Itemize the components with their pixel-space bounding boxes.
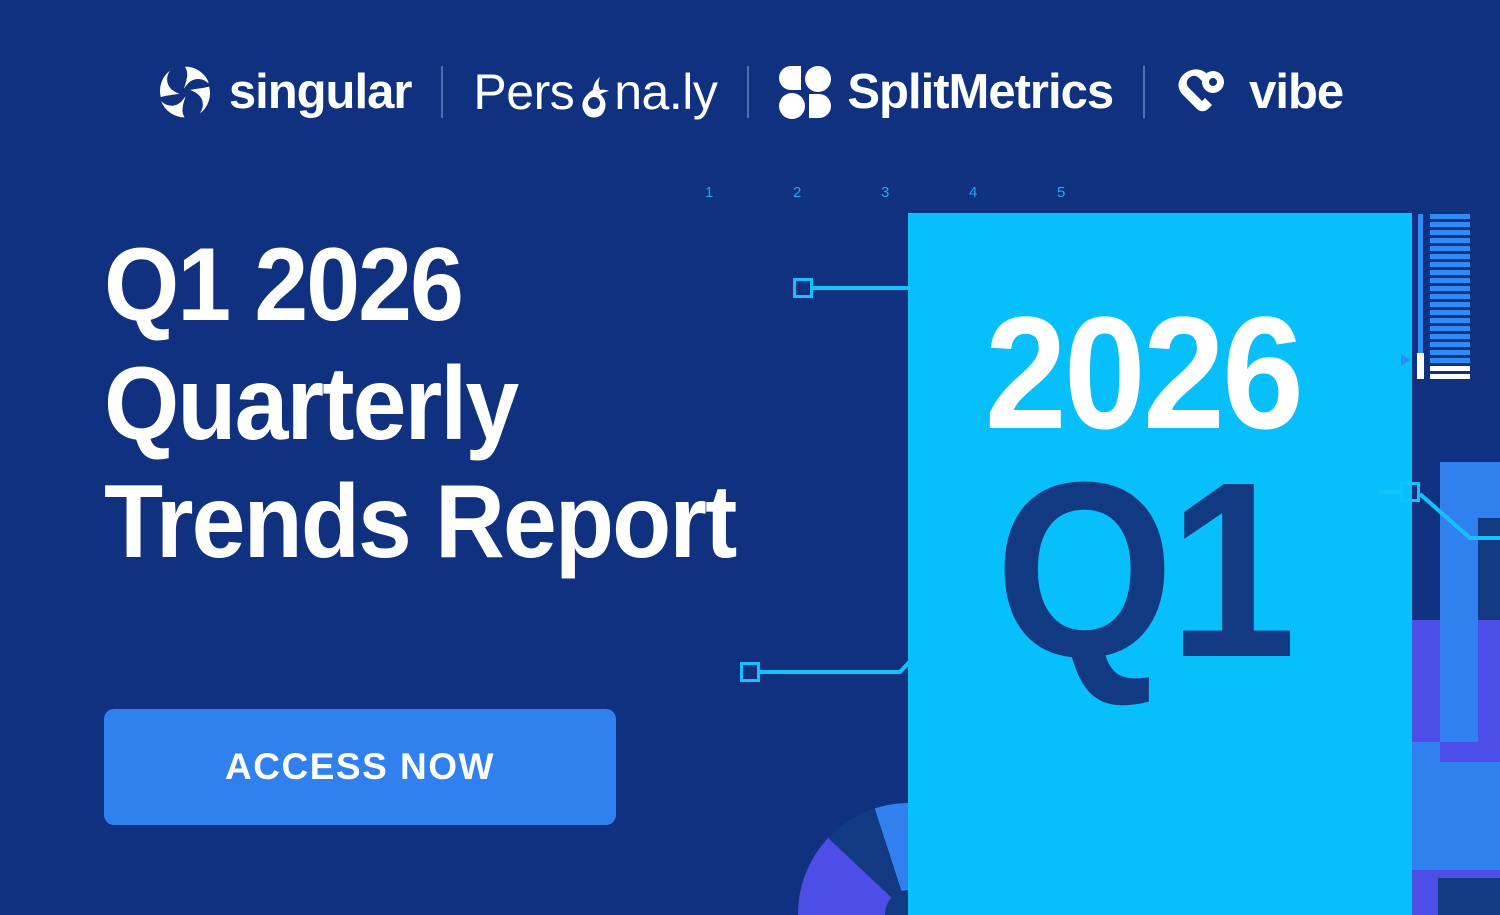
- tick-label-2: 2: [793, 184, 801, 201]
- slider-tick: [1430, 254, 1470, 259]
- slider-tick: [1430, 326, 1470, 331]
- connector-polyline-mid: [735, 600, 925, 690]
- decor-navy-corner: [1438, 878, 1500, 915]
- quarter-panel: 2026 Q1: [908, 213, 1378, 915]
- tick-label-4: 4: [969, 184, 977, 201]
- partner-logo-bar: singular Pers na.ly: [0, 44, 1500, 140]
- slider-tick: [1430, 366, 1470, 371]
- slider-tick: [1430, 318, 1470, 323]
- slider-tick: [1430, 302, 1470, 307]
- access-now-button[interactable]: ACCESS NOW: [104, 709, 616, 825]
- page-title: Q1 2026 Quarterly Trends Report: [104, 226, 829, 582]
- connector-polyline-right: [1370, 470, 1500, 560]
- tick-row: 1 2 3 4 5: [660, 184, 1120, 210]
- decor-cyan-strip: [1378, 213, 1412, 915]
- decor-purple-block-b: [1440, 742, 1500, 762]
- slider-tick: [1430, 270, 1470, 275]
- logo-personaly-text-after: na.ly: [614, 64, 717, 120]
- logo-divider-2: [747, 66, 749, 118]
- logo-divider-1: [441, 66, 443, 118]
- headline-line-2: Quarterly: [104, 345, 829, 464]
- slider-tick: [1430, 286, 1470, 291]
- slider-tick: [1430, 214, 1470, 219]
- logo-splitmetrics-text: SplitMetrics: [847, 68, 1113, 117]
- slider-tick: [1430, 374, 1470, 379]
- logo-singular-text: singular: [229, 68, 412, 117]
- connector-node-right: [1400, 482, 1420, 502]
- logo-vibe[interactable]: vibe: [1145, 68, 1373, 117]
- logo-personaly[interactable]: Pers na.ly: [443, 63, 747, 121]
- slider-tick: [1430, 294, 1470, 299]
- slider-tick: [1430, 262, 1470, 267]
- heart-v-icon: [1175, 69, 1233, 115]
- logo-personaly-text: Pers na.ly: [473, 63, 717, 121]
- vertical-slider[interactable]: [1418, 214, 1478, 374]
- play-triangle-icon: [1401, 354, 1410, 366]
- slider-tick: [1430, 334, 1470, 339]
- tick-label-5: 5: [1057, 184, 1065, 201]
- banner-root: 2026 Q1 1 2 3 4 5: [0, 0, 1500, 915]
- slider-tick: [1430, 350, 1470, 355]
- slider-tick: [1430, 246, 1470, 251]
- slider-tick: [1430, 222, 1470, 227]
- panel-year-label: 2026: [927, 297, 1359, 449]
- logo-singular[interactable]: singular: [127, 64, 442, 120]
- headline-line-3: Trends Report: [104, 463, 829, 582]
- logo-personaly-text-before: Pers: [473, 64, 574, 120]
- slider-tick: [1430, 230, 1470, 235]
- tick-label-3: 3: [881, 184, 889, 201]
- logo-splitmetrics[interactable]: SplitMetrics: [749, 66, 1143, 118]
- logo-divider-3: [1143, 66, 1145, 118]
- slider-tick: [1430, 358, 1470, 363]
- logo-vibe-text: vibe: [1249, 68, 1343, 117]
- headline-line-1: Q1 2026: [104, 226, 829, 345]
- slider-thumb[interactable]: [1417, 353, 1424, 379]
- slider-track[interactable]: [1418, 214, 1423, 354]
- aperture-icon: [157, 64, 213, 120]
- tick-label-1: 1: [705, 184, 713, 201]
- slider-tick: [1430, 238, 1470, 243]
- panel-quarter-label: Q1: [927, 451, 1359, 689]
- slider-tick: [1430, 310, 1470, 315]
- connector-node-mid-left: [740, 662, 760, 682]
- slider-tick: [1430, 342, 1470, 347]
- four-dots-icon: [779, 66, 831, 118]
- slider-tick-marks: [1430, 214, 1470, 382]
- slider-tick: [1430, 278, 1470, 283]
